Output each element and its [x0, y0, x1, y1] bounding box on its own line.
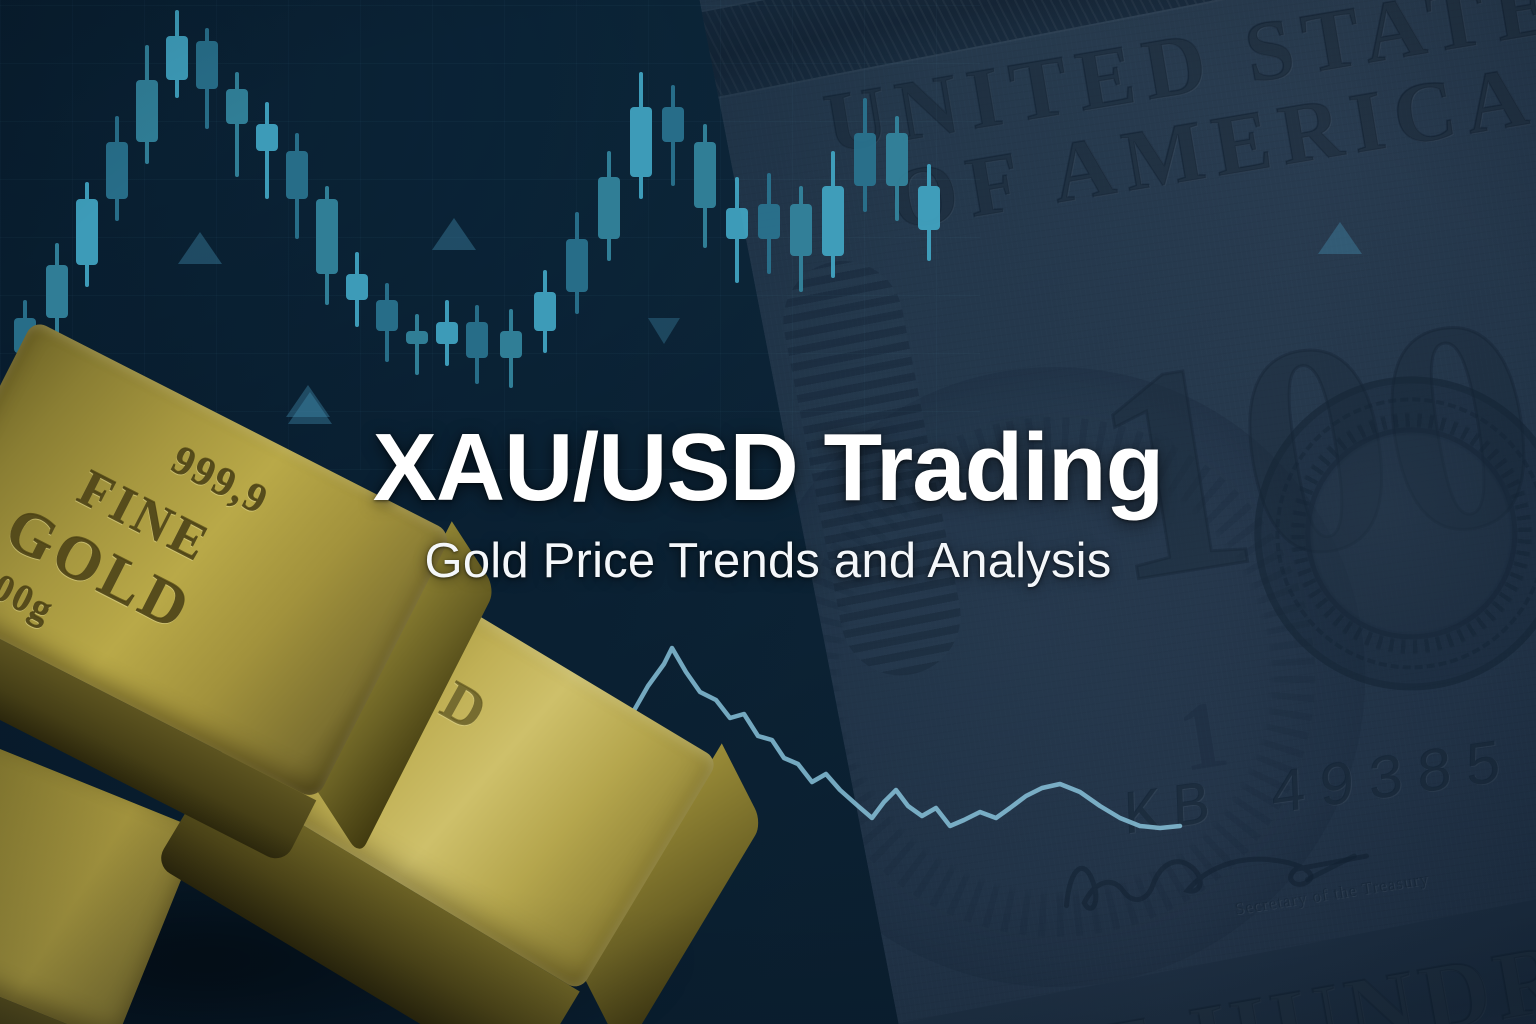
hero-banner: 100 1 UNITED STATES OF AMERICA KB 49385 … [0, 0, 1536, 1024]
vignette-overlay [0, 0, 1536, 1024]
